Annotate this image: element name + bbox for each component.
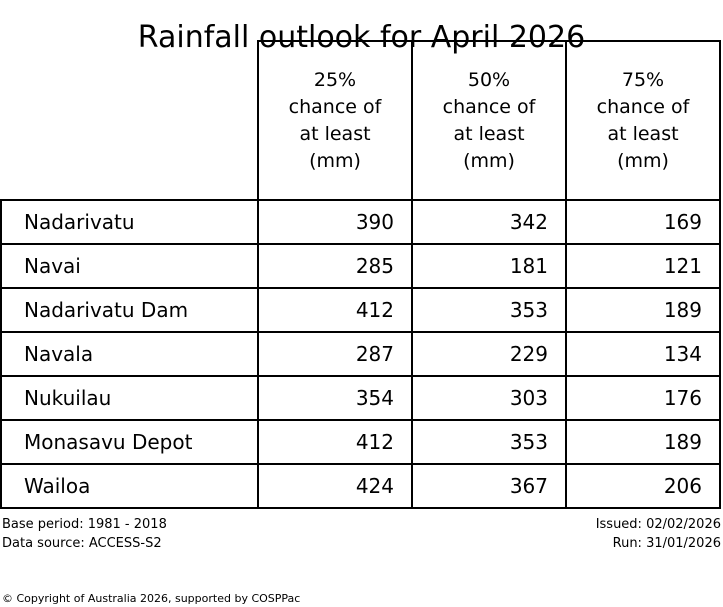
table-row: Navala 287 229 134 <box>1 332 720 376</box>
table-header: 25% chance of at least (mm) 50% chance o… <box>1 41 720 200</box>
value-75: 206 <box>566 464 720 508</box>
table-row: Navai 285 181 121 <box>1 244 720 288</box>
table-header-row: 25% chance of at least (mm) 50% chance o… <box>1 41 720 200</box>
data-source-text: Data source: ACCESS-S2 <box>2 534 162 553</box>
value-50: 342 <box>412 200 566 244</box>
location-name: Nadarivatu Dam <box>1 288 258 332</box>
column-header-50-line4: (mm) <box>413 148 565 175</box>
location-name: Navala <box>1 332 258 376</box>
column-header-50-line1: 50% <box>413 67 565 94</box>
value-50: 353 <box>412 420 566 464</box>
column-header-50-line3: at least <box>413 121 565 148</box>
footer-row-1: Base period: 1981 - 2018 Issued: 02/02/2… <box>0 515 723 534</box>
location-name: Wailoa <box>1 464 258 508</box>
value-75: 189 <box>566 420 720 464</box>
column-header-25-line3: at least <box>259 121 411 148</box>
location-name: Nukuilau <box>1 376 258 420</box>
table-row: Nukuilau 354 303 176 <box>1 376 720 420</box>
value-75: 189 <box>566 288 720 332</box>
column-header-25: 25% chance of at least (mm) <box>258 41 412 200</box>
value-50: 367 <box>412 464 566 508</box>
value-25: 412 <box>258 420 412 464</box>
value-50: 229 <box>412 332 566 376</box>
table-row: Wailoa 424 367 206 <box>1 464 720 508</box>
location-name: Navai <box>1 244 258 288</box>
location-name: Nadarivatu <box>1 200 258 244</box>
value-75: 176 <box>566 376 720 420</box>
value-50: 181 <box>412 244 566 288</box>
value-25: 285 <box>258 244 412 288</box>
column-header-75: 75% chance of at least (mm) <box>566 41 720 200</box>
column-header-25-line1: 25% <box>259 67 411 94</box>
column-header-75-line4: (mm) <box>567 148 719 175</box>
column-header-75-line1: 75% <box>567 67 719 94</box>
column-header-25-line2: chance of <box>259 94 411 121</box>
table-row: Nadarivatu 390 342 169 <box>1 200 720 244</box>
run-date-text: Run: 31/01/2026 <box>613 534 721 553</box>
value-50: 303 <box>412 376 566 420</box>
value-75: 134 <box>566 332 720 376</box>
column-header-75-line3: at least <box>567 121 719 148</box>
column-header-50: 50% chance of at least (mm) <box>412 41 566 200</box>
value-25: 424 <box>258 464 412 508</box>
footer: Base period: 1981 - 2018 Issued: 02/02/2… <box>0 515 723 553</box>
table-row: Nadarivatu Dam 412 353 189 <box>1 288 720 332</box>
table-corner-cell <box>1 41 258 200</box>
base-period-text: Base period: 1981 - 2018 <box>2 515 167 534</box>
value-50: 353 <box>412 288 566 332</box>
value-25: 412 <box>258 288 412 332</box>
value-75: 121 <box>566 244 720 288</box>
column-header-75-line2: chance of <box>567 94 719 121</box>
value-25: 354 <box>258 376 412 420</box>
footer-row-2: Data source: ACCESS-S2 Run: 31/01/2026 <box>0 534 723 553</box>
value-25: 390 <box>258 200 412 244</box>
location-name: Monasavu Depot <box>1 420 258 464</box>
value-75: 169 <box>566 200 720 244</box>
table-row: Monasavu Depot 412 353 189 <box>1 420 720 464</box>
value-25: 287 <box>258 332 412 376</box>
copyright-text: © Copyright of Australia 2026, supported… <box>2 592 300 606</box>
column-header-25-line4: (mm) <box>259 148 411 175</box>
issued-date-text: Issued: 02/02/2026 <box>596 515 721 534</box>
rainfall-outlook-table: 25% chance of at least (mm) 50% chance o… <box>0 40 721 509</box>
table-body: Nadarivatu 390 342 169 Navai 285 181 121… <box>1 200 720 508</box>
column-header-50-line2: chance of <box>413 94 565 121</box>
